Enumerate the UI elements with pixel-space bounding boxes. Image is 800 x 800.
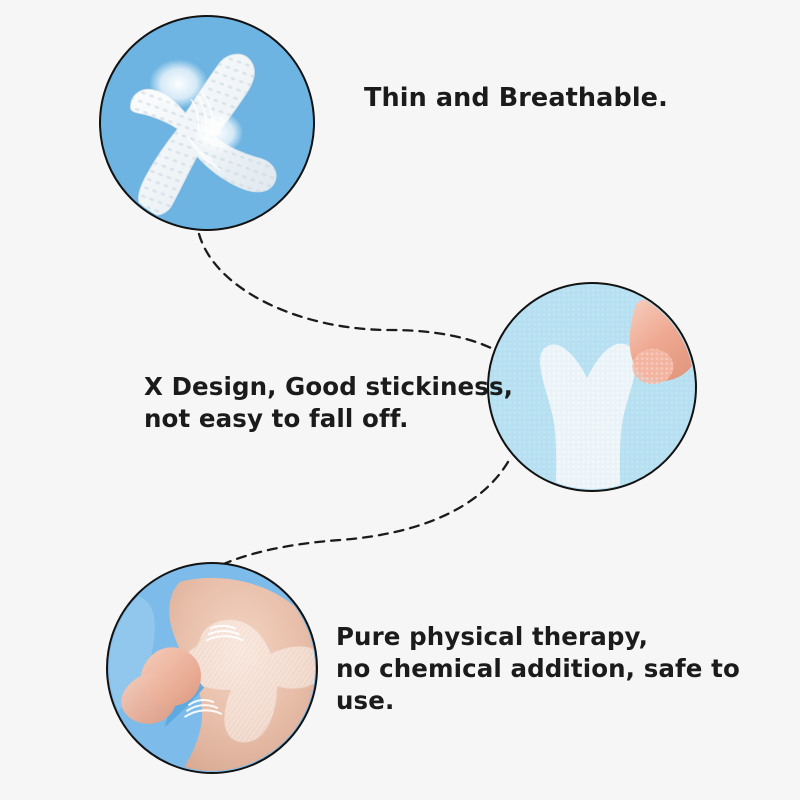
feature-image-thin-breathable[interactable] <box>99 15 315 231</box>
infographic-canvas: Thin and Breathable. X Design, Good stic… <box>0 0 800 800</box>
fingertip <box>630 295 695 384</box>
air-puff-center <box>192 111 243 154</box>
feature-caption-x-design-sticky: X Design, Good stickiness, not easy to f… <box>144 371 513 435</box>
feature-caption-thin-breathable: Thin and Breathable. <box>364 82 668 115</box>
thin-breathable-illustration <box>101 17 313 229</box>
feature-caption-pure-physical-therapy: Pure physical therapy, no chemical addit… <box>336 621 800 717</box>
air-puff-upper <box>149 59 208 108</box>
feature-image-pure-physical-therapy[interactable] <box>106 562 318 774</box>
feature-image-x-design-sticky[interactable] <box>487 282 697 492</box>
connector-1-to-2 <box>199 234 516 365</box>
connector-2-to-3 <box>203 462 508 575</box>
pure-therapy-illustration <box>108 564 316 772</box>
x-design-illustration <box>489 284 695 490</box>
